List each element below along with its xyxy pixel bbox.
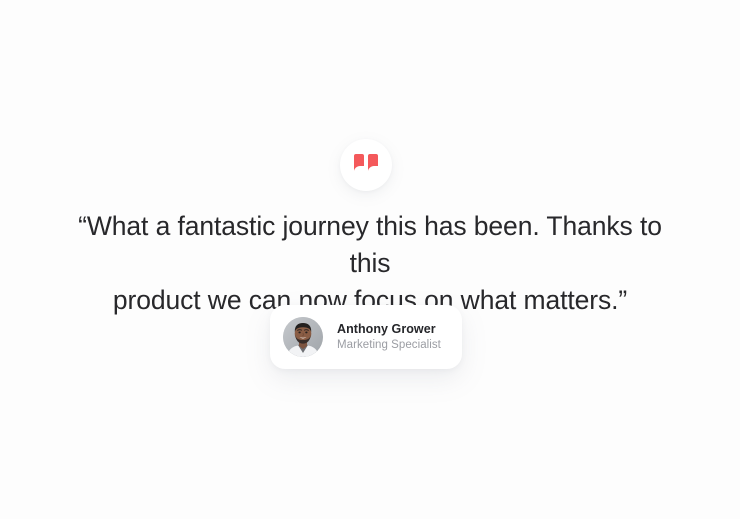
author-meta: Anthony Grower Marketing Specialist xyxy=(337,323,441,352)
author-name: Anthony Grower xyxy=(337,323,441,336)
author-card[interactable]: Anthony Grower Marketing Specialist xyxy=(270,305,462,369)
avatar xyxy=(283,317,323,357)
quote-mark-stroke-left xyxy=(354,154,364,174)
quote-badge xyxy=(340,139,392,191)
author-role: Marketing Specialist xyxy=(337,340,441,352)
quote-mark-icon xyxy=(353,154,379,176)
testimonial-section: “What a fantastic journey this has been.… xyxy=(0,0,740,519)
quote-mark-stroke-right xyxy=(368,154,378,174)
testimonial-quote-text: “What a fantastic journey this has been.… xyxy=(70,208,670,319)
